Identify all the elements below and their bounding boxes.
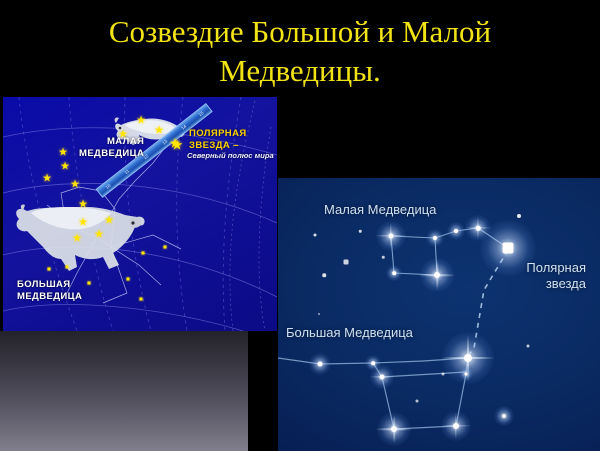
polaris-star — [503, 243, 514, 254]
label-ursa-major-chart: БОЛЬШАЯ МЕДВЕДИЦА — [17, 279, 82, 303]
star-point — [464, 354, 472, 362]
star-point — [389, 234, 394, 239]
star-point — [433, 236, 437, 240]
chart-star-small — [164, 246, 167, 249]
label-polaris-photo: Полярная звезда — [526, 260, 586, 292]
field-star — [517, 214, 521, 218]
chart-star-small — [140, 298, 143, 301]
polaris-chart-star: ★ — [171, 140, 184, 151]
label-ursa-major-photo: Большая Медведица — [286, 325, 413, 341]
field-star — [416, 400, 419, 403]
label-ursa-minor-chart: МАЛАЯ МЕДВЕДИЦА — [79, 136, 144, 160]
star-point — [465, 373, 468, 376]
star-point — [434, 272, 440, 278]
field-star — [502, 414, 506, 418]
star-point — [371, 361, 375, 365]
chart-star: ★ — [154, 126, 164, 137]
chart-star-small — [66, 266, 69, 269]
chart-star: ★ — [60, 162, 70, 173]
ruler-tick: 10 — [104, 182, 113, 191]
chart-star: ★ — [70, 180, 80, 191]
field-star — [359, 230, 362, 233]
chart-star: ★ — [72, 234, 82, 245]
constellation-lines-photo — [278, 178, 600, 451]
chart-star: ★ — [58, 148, 68, 159]
field-star — [318, 313, 320, 315]
ruler-tick: 15 — [197, 109, 206, 118]
slide-canvas: Созвездие Большой и Малой Медведицы. — [0, 0, 600, 451]
ruler-tick: 11 — [123, 168, 132, 177]
star-point — [391, 426, 397, 432]
chart-star-small — [142, 252, 145, 255]
star-chart-illustration: 10 11 12 13 14 15 ★ ★ ★ ★ ★ ★ ★ ★ ★ ★ ★ … — [3, 97, 277, 331]
star-point — [453, 423, 459, 429]
star-point — [380, 375, 385, 380]
label-polaris-chart: ПОЛЯРНАЯ ЗВЕЗДА – — [189, 128, 247, 152]
field-star — [344, 260, 349, 265]
chart-star-small — [88, 282, 91, 285]
field-star — [442, 373, 445, 376]
field-star — [527, 345, 530, 348]
label-celestial-north-pole: Северный полюс мира — [187, 150, 274, 162]
ruler-tick: 14 — [180, 123, 189, 132]
chart-star: ★ — [136, 116, 146, 127]
star-point — [392, 271, 396, 275]
chart-star: ★ — [42, 174, 52, 185]
chart-star: ★ — [104, 216, 114, 227]
star-point — [318, 362, 323, 367]
chart-star-small — [127, 278, 130, 281]
chart-star: ★ — [78, 200, 88, 211]
chart-star: ★ — [94, 230, 104, 241]
label-ursa-minor-photo: Малая Медведица — [324, 202, 436, 218]
gray-gradient-panel — [0, 331, 248, 451]
chart-star: ★ — [78, 218, 88, 229]
field-star — [314, 234, 317, 237]
star-point — [476, 226, 481, 231]
page-title: Созвездие Большой и Малой Медведицы. — [0, 12, 600, 90]
star-point — [454, 229, 458, 233]
night-sky-photo: Малая Медведица Большая Медведица Полярн… — [278, 178, 600, 451]
field-star — [382, 256, 385, 259]
chart-star-small — [48, 268, 51, 271]
field-star — [322, 273, 326, 277]
